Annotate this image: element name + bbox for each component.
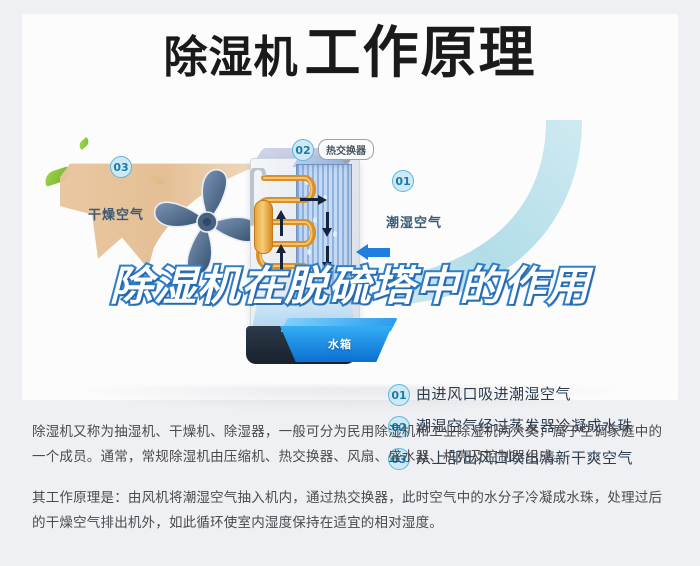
overlay-headline: 除湿机在脱硫塔中的作用 bbox=[0, 266, 700, 307]
callout-badge-humid-air: 01 bbox=[392, 170, 414, 192]
leaf-icon bbox=[77, 137, 91, 150]
water-tank: 水箱 bbox=[280, 316, 400, 378]
page-title: 除湿机工作原理 bbox=[0, 26, 700, 82]
callout-bubble-heat-exchanger: 热交换器 bbox=[318, 139, 374, 160]
callout-label-dry-air: 干燥空气 bbox=[88, 204, 144, 223]
callout-badge-dry-air: 03 bbox=[110, 156, 132, 178]
air-intake-arrow bbox=[356, 244, 390, 260]
title-small: 除湿机 bbox=[164, 32, 299, 83]
callout-badge-heat-exchanger: 02 bbox=[292, 139, 314, 161]
compressor bbox=[254, 200, 273, 254]
infographic-page: 除湿机工作原理 bbox=[0, 0, 700, 566]
water-tank-label: 水箱 bbox=[280, 336, 400, 352]
overlay-headline-text: 除湿机在脱硫塔中的作用 bbox=[110, 266, 590, 307]
paragraph-1: 除湿机又称为抽湿机、干燥机、除湿器，一般可分为民用除湿机和工业除湿机两大类，属于… bbox=[32, 420, 672, 470]
legend-text: 由进风口吸进潮湿空气 bbox=[416, 383, 571, 404]
body-copy: 除湿机又称为抽湿机、干燥机、除湿器，一般可分为民用除湿机和工业除湿机两大类，属于… bbox=[32, 420, 672, 536]
paragraph-2: 其工作原理是：由风机将潮湿空气抽入机内，通过热交换器，此时空气中的水分子冷凝成水… bbox=[32, 486, 672, 536]
callout-label-humid-air: 潮湿空气 bbox=[386, 212, 442, 231]
legend-item: 01 由进风口吸进潮湿空气 bbox=[388, 380, 678, 412]
legend-badge: 01 bbox=[388, 384, 410, 406]
title-big: 工作原理 bbox=[305, 21, 537, 86]
diagram-stage: 水箱 03 干燥空气 01 潮湿空气 02 热交换器 01 由进风口吸进潮湿空气… bbox=[0, 118, 700, 400]
